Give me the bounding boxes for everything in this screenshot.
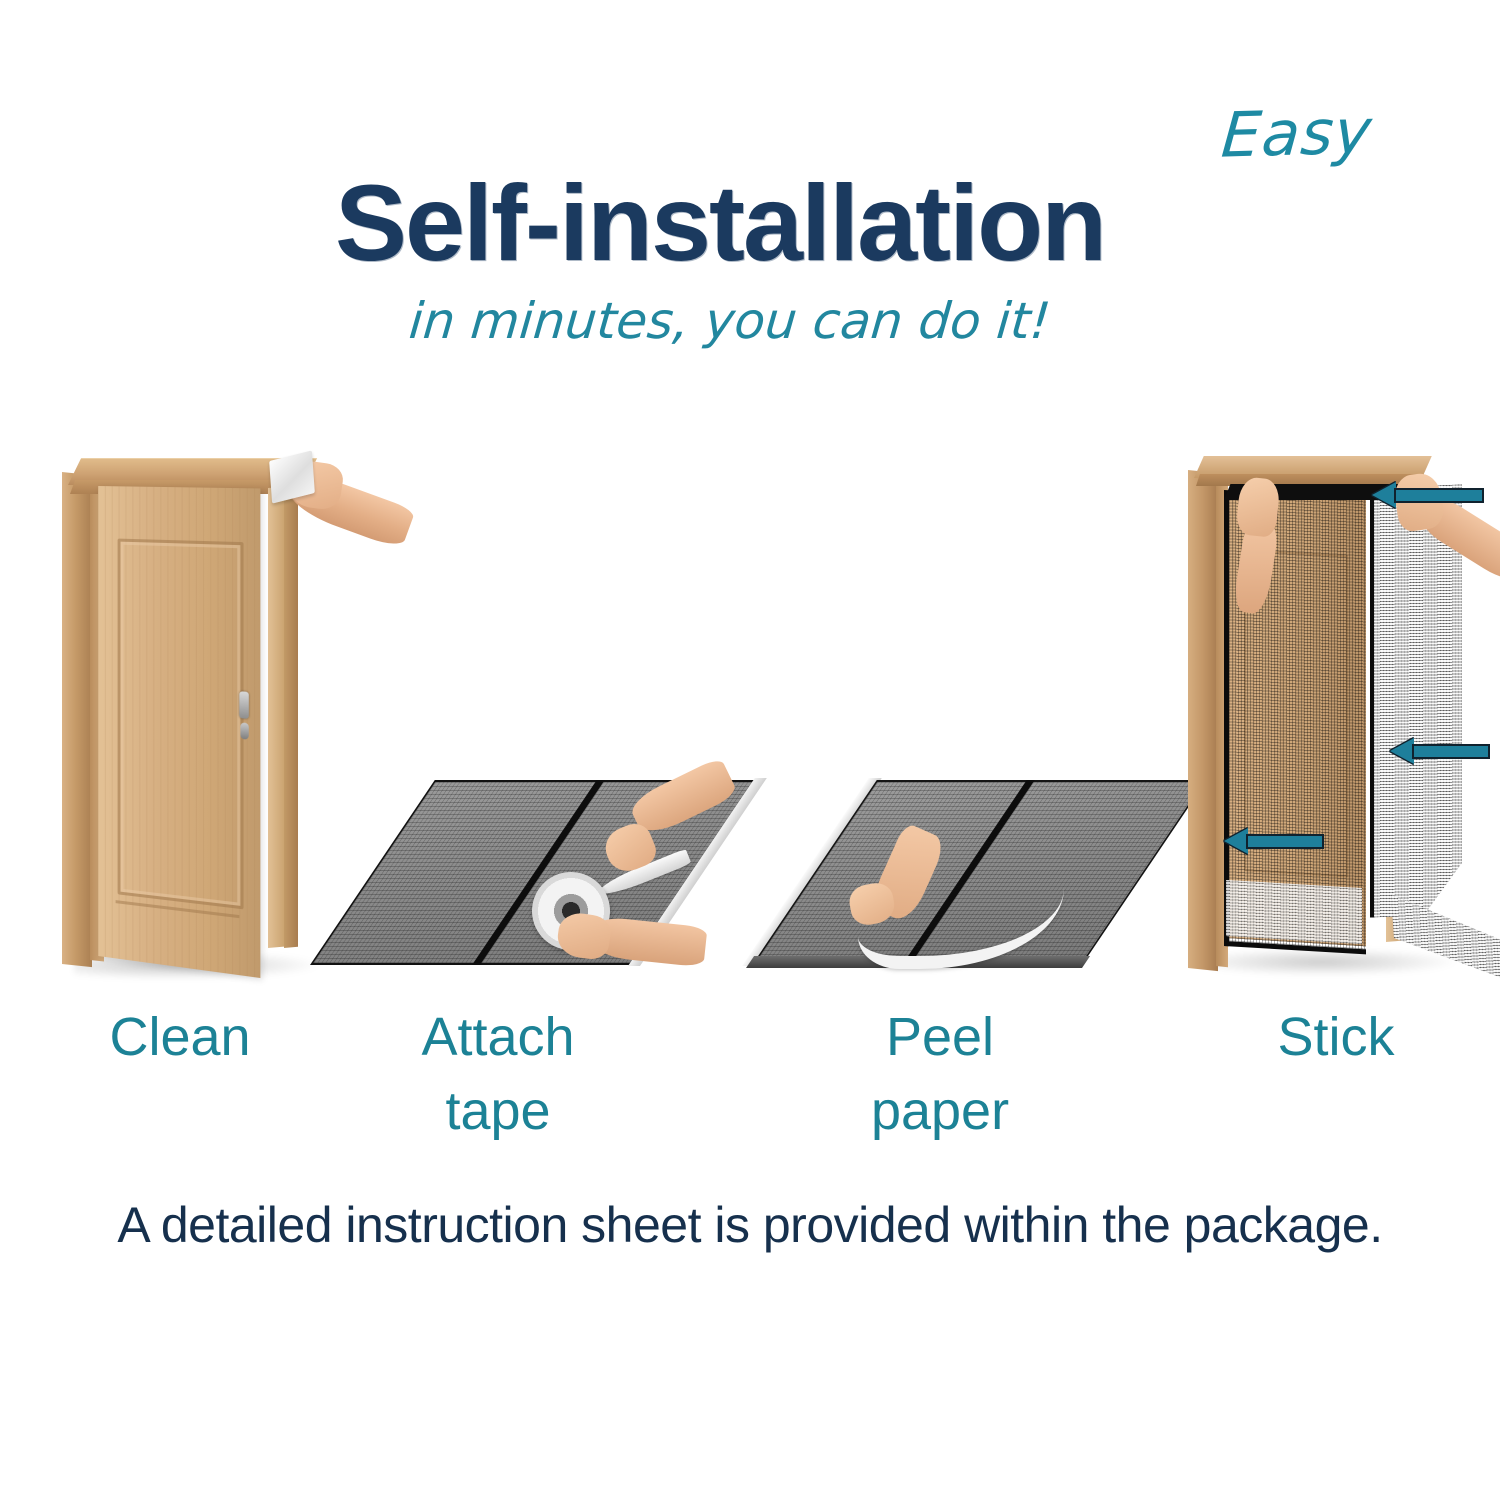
door-jamb-left (62, 472, 92, 967)
arrow-shaft (1394, 488, 1484, 503)
step-illustration-peel-paper (752, 780, 1172, 990)
step-label-line-2: tape (318, 1074, 678, 1148)
page-title: Self-installation (0, 160, 1500, 285)
arrow-shaft (1412, 744, 1490, 759)
step-label-line-1: Stick (1176, 1000, 1496, 1074)
door-jamb-left (1188, 470, 1218, 971)
step-label-line-1: Clean (30, 1000, 330, 1074)
door-bottom-rail (116, 900, 240, 960)
door-panel-inset (118, 539, 244, 910)
step-label-line-2: paper (760, 1074, 1120, 1148)
door-jamb-right (268, 487, 284, 948)
mesh-screen-right-flap (1370, 484, 1462, 917)
arrow-left-icon-middle (1390, 738, 1490, 764)
header-subtitle: in minutes, you can do it! (0, 292, 1500, 350)
step-label-peel-paper: Peel paper (760, 1000, 1120, 1148)
arrow-shaft (1246, 834, 1324, 849)
step-illustration-clean (52, 450, 342, 990)
step-label-line-1: Attach (318, 1000, 678, 1074)
arrow-left-icon-lower (1224, 828, 1324, 854)
step-label-stick: Stick (1176, 1000, 1496, 1074)
door-handle-icon (239, 691, 248, 719)
arrow-head (1372, 482, 1396, 508)
step-illustration-stick (1180, 450, 1500, 990)
step-label-clean: Clean (30, 1000, 330, 1074)
door-leaf (98, 486, 260, 978)
arrow-head (1390, 738, 1414, 764)
mesh-screen-hem (1226, 880, 1362, 944)
step-label-line-1: Peel (760, 1000, 1120, 1074)
door-jamb-right-inner (284, 485, 298, 948)
door-lock-icon (240, 722, 248, 739)
step-label-attach-tape: Attach tape (318, 1000, 678, 1148)
arrow-left-icon-top (1372, 482, 1484, 508)
step-illustration-attach-tape (310, 780, 730, 990)
footer-note: A detailed instruction sheet is provided… (0, 1196, 1500, 1254)
arrow-head (1224, 828, 1248, 854)
infographic-page: Easy Self-installation in minutes, you c… (0, 0, 1500, 1500)
